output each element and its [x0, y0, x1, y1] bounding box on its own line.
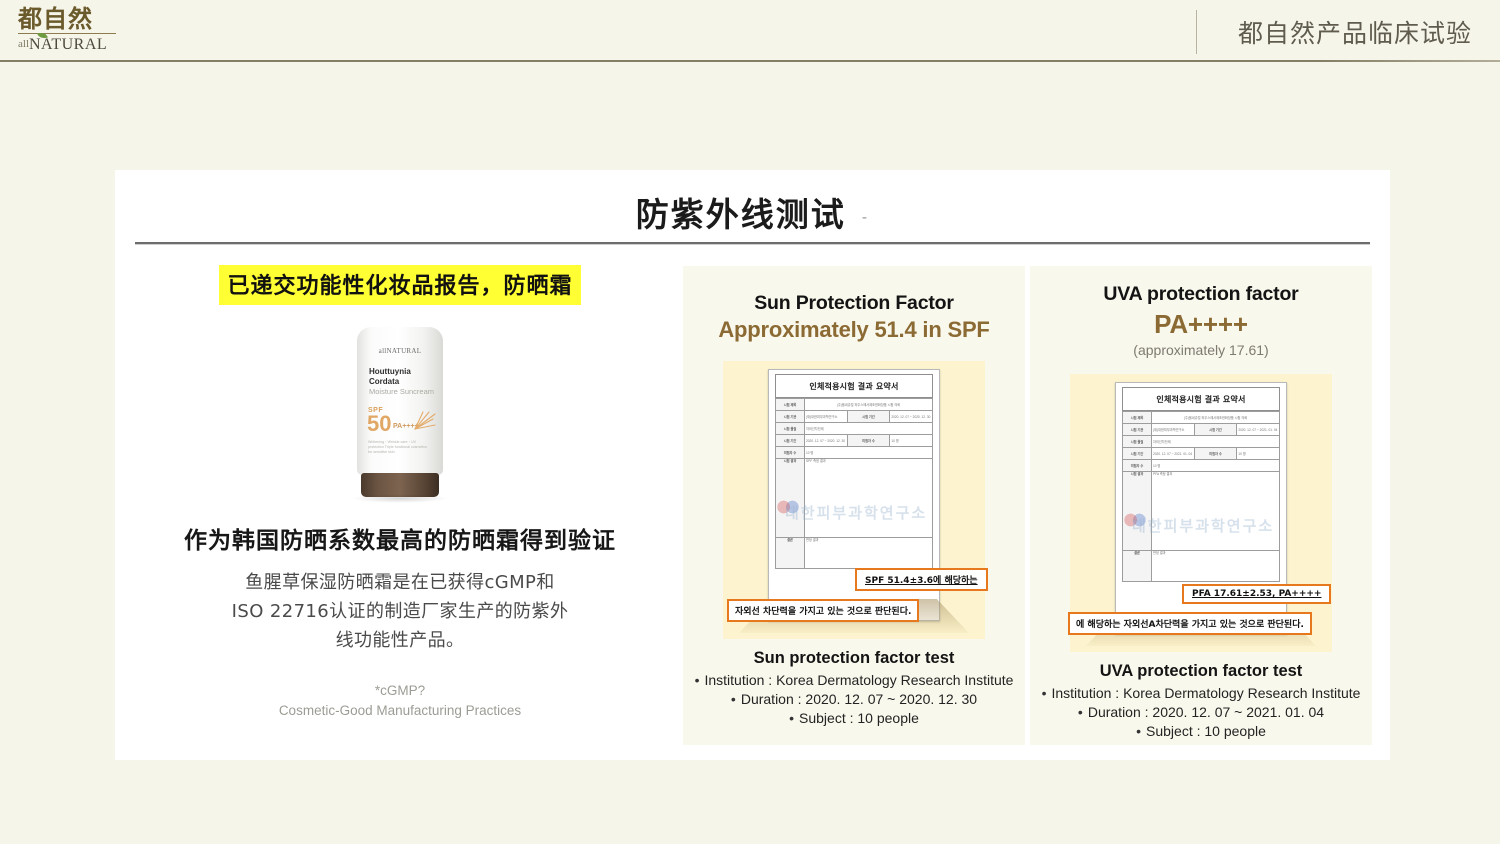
uva-panel-title: UVA protection factor: [1030, 283, 1372, 306]
spf-callout-top-text: SPF 51.4±3.6에 해당하는: [865, 576, 978, 586]
left-body-text: 鱼腥草保湿防晒霜是在已获得cGMP和 ISO 22716认证的制造厂家生产的防紫…: [125, 568, 675, 655]
panel-sun-protection-factor: Sun Protection Factor Approximately 51.4…: [683, 266, 1025, 745]
logo-natural-text: NATURAL: [29, 36, 107, 53]
uva-row0-value: (주)올네츄럴 하우스에서제조한화장품 시험 의뢰: [1152, 412, 1280, 424]
page-title-tail: -: [862, 208, 869, 226]
title-underline: [135, 242, 1370, 245]
spf-caption-item-1: Duration : 2020. 12. 07 ~ 2020. 12. 30: [741, 691, 977, 707]
uva-row5-value: PFA 측정 결과: [1152, 472, 1280, 551]
bullet-icon: •: [1078, 704, 1083, 720]
uva-panel-approx: (approximately 17.61): [1030, 342, 1372, 358]
list-item: •Subject : 10 people: [1030, 722, 1372, 741]
product-subtitle-label: Moisture Suncream: [369, 387, 434, 396]
uva-row1-subvalue: 2020. 12. 07 ~ 2021. 01. 04: [1237, 424, 1280, 436]
spf-row4-value: 10 명: [805, 447, 933, 459]
table-row: 시험 결과 SPF 측정 결과: [776, 459, 933, 538]
list-item: •Duration : 2020. 12. 07 ~ 2021. 01. 04: [1030, 703, 1372, 722]
table-row: 시험 기간 2020. 12. 07 ~ 2020. 12. 30 피험자 수 …: [776, 435, 933, 447]
bullet-icon: •: [695, 672, 700, 688]
spf-report-table: 시험 제목 (주)올네츄럴 하우스에서제조한화장품 시험 의뢰 시험 기관 (재…: [775, 398, 933, 569]
left-body-line-3: 线功能性产品。: [125, 626, 675, 655]
logo-divider: [18, 33, 116, 34]
table-row: 시험 기간 2020. 12. 07 ~ 2021. 01. 04 피험자 수 …: [1123, 448, 1280, 460]
spf-row1-value: (재)대한피부과학연구소: [805, 411, 848, 423]
uva-callout-bottom: 에 해당하는 자외선A차단력을 가지고 있는 것으로 판단된다.: [1068, 612, 1312, 635]
table-row: 피험자 수 10 명: [1123, 460, 1280, 472]
uva-row1-label: 시험 기관: [1123, 424, 1152, 436]
product-name-line1: Houttuynia: [369, 367, 411, 377]
bullet-icon: •: [1136, 723, 1141, 739]
product-name-label: Houttuynia Cordata: [369, 367, 411, 386]
spf-row2-label: 시험 물질: [776, 423, 805, 435]
spf-row3-label: 시험 기간: [776, 435, 805, 447]
list-item: •Institution : Korea Dermatology Researc…: [683, 671, 1025, 690]
spf-callout-bottom-text: 자외선 차단력을 가지고 있는 것으로 판단된다.: [735, 607, 911, 617]
uva-caption-title: UVA protection factor test: [1030, 662, 1372, 681]
logo-natural-label: NATURAL: [29, 36, 107, 53]
left-column: 已递交功能性化妆品报告，防晒霜 allNATURAL Houttuynia Co…: [125, 265, 675, 721]
product-brand-label: allNATURAL: [357, 347, 443, 355]
table-row: 시험 제목 (주)올네츄럴 하우스에서제조한화장품 시험 의뢰: [776, 399, 933, 411]
uva-row3-subvalue: 10 명: [1237, 448, 1280, 460]
uva-row4-label: 피험자 수: [1123, 460, 1152, 472]
spf-panel-value: Approximately 51.4 in SPF: [683, 317, 1025, 343]
brand-logo: 都自然 allNATURAL: [18, 6, 138, 54]
header-vertical-divider: [1196, 10, 1197, 54]
uva-caption-item-0: Institution : Korea Dermatology Research…: [1051, 685, 1360, 701]
slide-card: 防紫外线测试- 已递交功能性化妆品报告，防晒霜 allNATURAL Houtt…: [115, 170, 1390, 760]
product-spf-value: 50: [367, 413, 391, 435]
spf-row0-label: 시험 제목: [776, 399, 805, 411]
list-item: •Duration : 2020. 12. 07 ~ 2020. 12. 30: [683, 690, 1025, 709]
spf-row3-sublabel: 피험자 수: [847, 435, 890, 447]
uva-row3-sublabel: 피험자 수: [1194, 448, 1237, 460]
spf-caption-list: •Institution : Korea Dermatology Researc…: [683, 671, 1025, 728]
uva-row2-label: 시험 물질: [1123, 436, 1152, 448]
uva-callout-top-text: PFA 17.61±2.53, PA++++: [1192, 589, 1321, 599]
highlighted-heading: 已递交功能性化妆品报告，防晒霜: [125, 265, 675, 305]
product-name-line2: Cordata: [369, 377, 411, 387]
spf-caption-title: Sun protection factor test: [683, 649, 1025, 668]
bullet-icon: •: [1042, 685, 1047, 701]
highlighted-heading-text: 已递交功能性化妆品报告，防晒霜: [219, 265, 580, 305]
logo-all-text: all: [18, 38, 29, 50]
uva-row6-label: 결론: [1123, 551, 1152, 582]
spf-row2-value: 자외선차단제: [805, 423, 933, 435]
spf-callout-bottom: 자외선 차단력을 가지고 있는 것으로 판단된다.: [727, 599, 919, 622]
table-row: 피험자 수 10 명: [776, 447, 933, 459]
uva-panel-value: PA++++: [1030, 309, 1372, 340]
spf-callout-top: SPF 51.4±3.6에 해당하는: [855, 568, 988, 591]
uva-row4-value: 10 명: [1152, 460, 1280, 472]
table-row: 시험 물질 자외선차단제: [776, 423, 933, 435]
spf-document-thumbnail[interactable]: 인체적용시험 결과 요약서 시험 제목 (주)올네츄럴 하우스에서제조한화장품 …: [723, 361, 985, 639]
table-row: 시험 기관 (재)대한피부과학연구소 시험 기간 2020. 12. 07 ~ …: [776, 411, 933, 423]
uva-row6-value: 판정 결과: [1152, 551, 1280, 582]
uva-report-header: 인체적용시험 결과 요약서: [1122, 387, 1280, 411]
uva-caption-list: •Institution : Korea Dermatology Researc…: [1030, 684, 1372, 741]
page-title: 防紫外线测试-: [115, 188, 1390, 236]
sunburst-icon: [413, 411, 437, 431]
product-fine-print: Whitening・Wrinkle care・UV protection Tri…: [368, 440, 432, 455]
logo-chinese-text: 都自然: [18, 6, 138, 32]
uva-seal-icon: [1124, 511, 1146, 529]
table-row: 결론 판정 결과: [776, 538, 933, 569]
spf-caption-item-0: Institution : Korea Dermatology Research…: [704, 672, 1013, 688]
uva-report-table: 시험 제목 (주)올네츄럴 하우스에서제조한화장품 시험 의뢰 시험 기관 (재…: [1122, 411, 1280, 582]
spf-row3-subvalue: 10 명: [890, 435, 933, 447]
uva-row0-label: 시험 제목: [1123, 412, 1152, 424]
uva-callout-bottom-text: 에 해당하는 자외선A차단력을 가지고 있는 것으로 판단된다.: [1076, 620, 1304, 630]
header-rule: [0, 60, 1500, 62]
table-row: 시험 기관 (재)대한피부과학연구소 시험 기간 2020. 12. 07 ~ …: [1123, 424, 1280, 436]
spf-row1-sublabel: 시험 기간: [847, 411, 890, 423]
bullet-icon: •: [731, 691, 736, 707]
page-title-text: 防紫外线测试: [636, 195, 846, 234]
product-image: allNATURAL Houttuynia Cordata Moisture S…: [357, 327, 443, 497]
left-headline: 作为韩国防晒系数最高的防晒霜得到验证: [125, 521, 675, 555]
uva-caption-item-1: Duration : 2020. 12. 07 ~ 2021. 01. 04: [1088, 704, 1324, 720]
uva-callout-top: PFA 17.61±2.53, PA++++: [1182, 584, 1331, 604]
header-title: 都自然产品临床试验: [1238, 14, 1472, 50]
uva-row2-value: 자외선차단제: [1152, 436, 1280, 448]
uva-document-thumbnail[interactable]: 인체적용시험 결과 요약서 시험 제목 (주)올네츄럴 하우스에서제조한화장품 …: [1070, 374, 1332, 652]
logo-english-text: allNATURAL: [18, 35, 138, 54]
spf-report-header: 인체적용시험 결과 요약서: [775, 374, 933, 398]
list-item: •Subject : 10 people: [683, 709, 1025, 728]
left-body-line-1: 鱼腥草保湿防晒霜是在已获得cGMP和: [125, 568, 675, 597]
spf-panel-title: Sun Protection Factor: [683, 292, 1025, 315]
spf-seal-icon: [777, 498, 799, 516]
spf-row3-value: 2020. 12. 07 ~ 2020. 12. 30: [805, 435, 848, 447]
spf-row1-subvalue: 2020. 12. 07 ~ 2020. 12. 30: [890, 411, 933, 423]
uva-row1-value: (재)대한피부과학연구소: [1152, 424, 1195, 436]
table-row: 시험 제목 (주)올네츄럴 하우스에서제조한화장품 시험 의뢰: [1123, 412, 1280, 424]
product-shadow: [352, 494, 448, 503]
left-footnote-line-2: Cosmetic-Good Manufacturing Practices: [125, 701, 675, 721]
spf-row5-value: SPF 측정 결과: [805, 459, 933, 538]
table-row: 결론 판정 결과: [1123, 551, 1280, 582]
page-header: 都自然 allNATURAL 都自然产品临床试验: [0, 0, 1500, 62]
left-footnote: *cGMP? Cosmetic-Good Manufacturing Pract…: [125, 681, 675, 721]
list-item: •Institution : Korea Dermatology Researc…: [1030, 684, 1372, 703]
table-row: 시험 결과 PFA 측정 결과: [1123, 472, 1280, 551]
uva-caption-item-2: Subject : 10 people: [1146, 723, 1266, 739]
uva-row1-sublabel: 시험 기간: [1194, 424, 1237, 436]
uva-row3-value: 2020. 12. 07 ~ 2021. 01. 04: [1152, 448, 1195, 460]
uva-row3-label: 시험 기간: [1123, 448, 1152, 460]
left-footnote-line-1: *cGMP?: [125, 681, 675, 701]
bullet-icon: •: [789, 710, 794, 726]
spf-row4-label: 피험자 수: [776, 447, 805, 459]
spf-caption-item-2: Subject : 10 people: [799, 710, 919, 726]
panel-uva-protection-factor: UVA protection factor PA++++ (approximat…: [1030, 266, 1372, 745]
spf-row0-value: (주)올네츄럴 하우스에서제조한화장품 시험 의뢰: [805, 399, 933, 411]
left-body-line-2: ISO 22716认证的制造厂家生产的防紫外: [125, 597, 675, 626]
table-row: 시험 물질 자외선차단제: [1123, 436, 1280, 448]
spf-row1-label: 시험 기관: [776, 411, 805, 423]
spf-row6-label: 결론: [776, 538, 805, 569]
spf-row6-value: 판정 결과: [805, 538, 933, 569]
